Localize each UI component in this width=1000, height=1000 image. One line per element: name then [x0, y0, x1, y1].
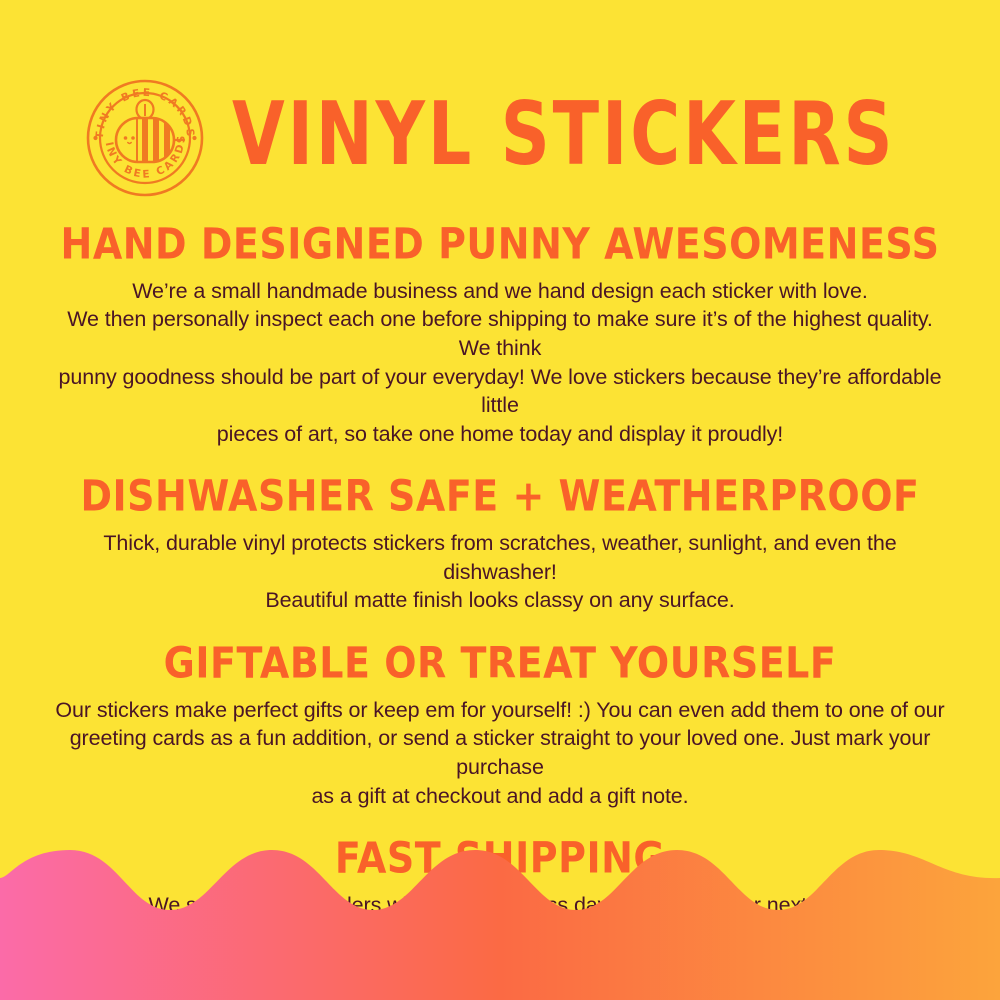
body-line: greeting cards as a fun addition, or sen… [50, 724, 950, 781]
page-title: VINYL STICKERS [232, 91, 895, 185]
section-heading: GIFTABLE OR TREAT YOURSELF [0, 638, 1000, 688]
page-header: TINY BEE CARDS TINY BEE CARDS [0, 78, 1000, 198]
section-dishwasher-safe: DISHWASHER SAFE + WEATHERPROOF Thick, du… [0, 474, 1000, 615]
body-line: Beautiful matte finish looks classy on a… [50, 586, 950, 615]
body-line: pieces of art, so take one home today an… [50, 420, 950, 449]
body-line: as a gift at checkout and add a gift not… [50, 782, 950, 811]
section-hand-designed: HAND DESIGNED PUNNY AWESOMENESS We’re a … [0, 222, 1000, 448]
section-body: Our stickers make perfect gifts or keep … [0, 696, 1000, 810]
section-giftable: GIFTABLE OR TREAT YOURSELF Our stickers … [0, 641, 1000, 810]
body-line: We then personally inspect each one befo… [50, 305, 950, 362]
body-line: Thick, durable vinyl protects stickers f… [50, 529, 950, 586]
body-line: We’re a small handmade business and we h… [50, 277, 950, 306]
section-body: We’re a small handmade business and we h… [0, 277, 1000, 449]
bee-badge-icon: TINY BEE CARDS TINY BEE CARDS [84, 77, 206, 199]
infographic-page: TINY BEE CARDS TINY BEE CARDS [0, 0, 1000, 1000]
body-line: Our stickers make perfect gifts or keep … [50, 696, 950, 725]
brand-logo: TINY BEE CARDS TINY BEE CARDS [84, 77, 206, 199]
body-line: punny goodness should be part of your ev… [50, 363, 950, 420]
scalloped-wave-shape [0, 840, 1000, 1000]
wave-footer-decoration [0, 840, 1000, 1000]
section-heading: DISHWASHER SAFE + WEATHERPROOF [0, 472, 1000, 522]
section-heading: HAND DESIGNED PUNNY AWESOMENESS [0, 219, 1000, 269]
section-body: Thick, durable vinyl protects stickers f… [0, 529, 1000, 615]
